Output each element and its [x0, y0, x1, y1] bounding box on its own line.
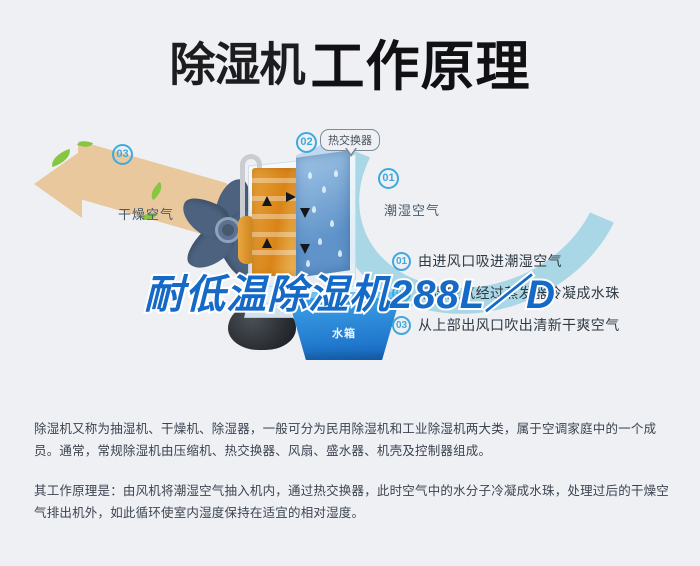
water-droplet-icon — [338, 250, 342, 257]
flow-arrow-up-icon — [262, 238, 272, 248]
coil-pipe — [252, 250, 298, 255]
description-paragraph-2: 其工作原理是：由风机将潮湿空气抽入机内，通过热交换器，此时空气中的水分子冷凝成水… — [34, 480, 670, 524]
flow-arrow-down-icon — [300, 244, 310, 254]
water-droplet-icon — [322, 186, 326, 193]
flow-arrow-right-icon — [286, 192, 296, 202]
flow-arrow-down-icon — [300, 208, 310, 218]
coil-pipe — [252, 232, 298, 237]
fan-hub-center — [222, 224, 234, 236]
description-paragraph-1: 除湿机又称为抽湿机、干燥机、除湿器，一般可分为民用除湿机和工业除湿机两大类，属于… — [34, 418, 670, 462]
page-title-part1: 除湿机 — [170, 39, 305, 91]
condenser-coil-block — [252, 168, 298, 276]
water-tank-label: 水箱 — [288, 325, 400, 341]
water-droplet-icon — [318, 238, 322, 245]
water-droplet-icon — [334, 170, 338, 177]
callout-pointer-inner — [346, 147, 356, 154]
page-title: 除湿机工作原理 — [0, 22, 700, 101]
water-droplet-icon — [312, 206, 316, 213]
humid-air-label: 潮湿空气 — [384, 200, 440, 219]
coil-pipe — [252, 214, 298, 219]
poster-root: 除湿机工作原理 — [0, 0, 700, 566]
product-headline: 耐低温除湿机288L／D — [0, 262, 700, 320]
dry-air-label: 干燥空气 — [118, 204, 174, 223]
description-block: 除湿机又称为抽湿机、干燥机、除湿器，一般可分为民用除湿机和工业除湿机两大类，属于… — [34, 418, 670, 524]
flow-arrow-up-icon — [262, 196, 272, 206]
badge-dry-air: 03 — [112, 144, 133, 165]
badge-heat-exchanger: 02 — [296, 132, 317, 153]
water-droplet-icon — [308, 172, 312, 179]
coil-pipe — [252, 178, 298, 183]
page-title-part2: 工作原理 — [311, 37, 531, 97]
water-droplet-icon — [330, 220, 334, 227]
badge-humid-air: 01 — [378, 168, 399, 189]
